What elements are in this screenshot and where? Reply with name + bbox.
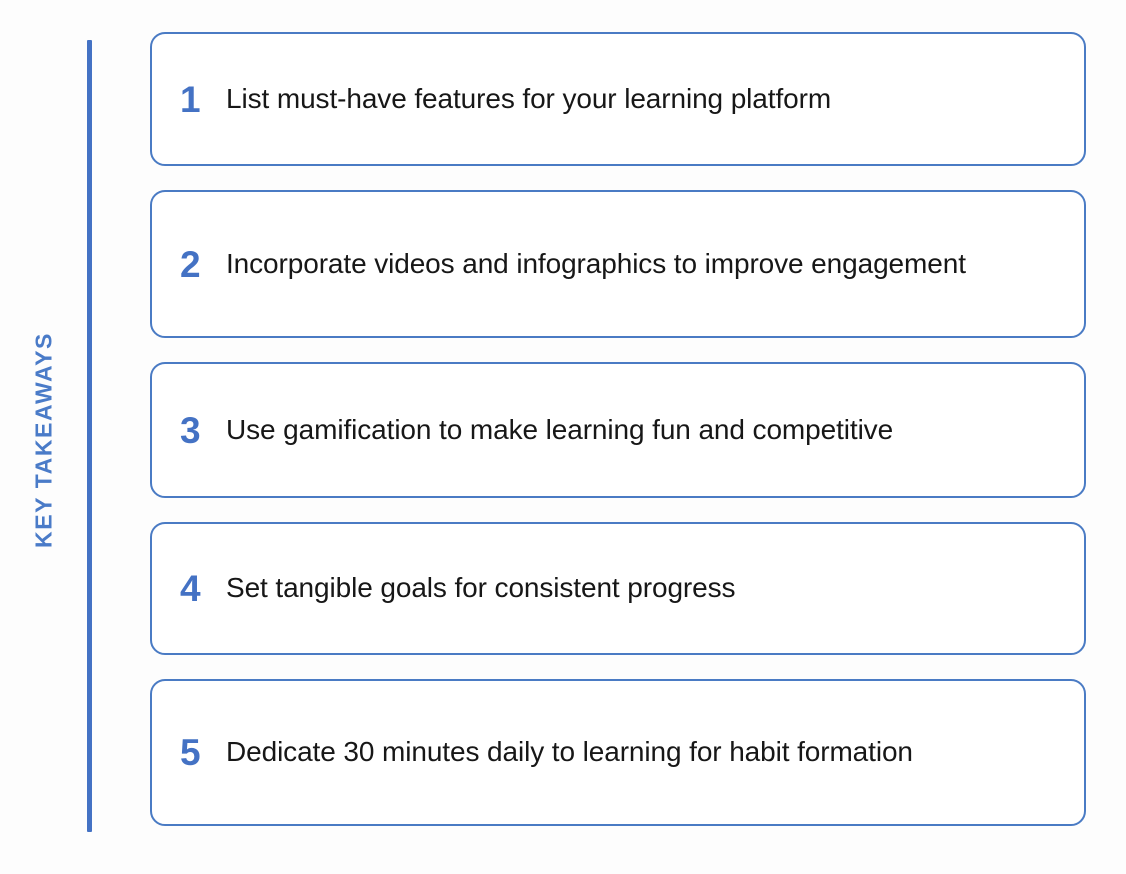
takeaway-text-4: Set tangible goals for consistent progre… bbox=[226, 569, 1062, 607]
vertical-accent-bar bbox=[87, 40, 92, 832]
takeaway-card-3[interactable]: 3 Use gamification to make learning fun … bbox=[150, 362, 1086, 498]
takeaway-number-4: 4 bbox=[180, 570, 226, 607]
takeaway-card-5[interactable]: 5 Dedicate 30 minutes daily to learning … bbox=[150, 679, 1086, 826]
takeaway-number-1: 1 bbox=[180, 81, 226, 118]
takeaway-card-1[interactable]: 1 List must-have features for your learn… bbox=[150, 32, 1086, 166]
takeaway-text-2: Incorporate videos and infographics to i… bbox=[226, 245, 1062, 283]
key-takeaways-infographic: KEY TAKEAWAYS 1 List must-have features … bbox=[0, 0, 1126, 874]
takeaway-text-1: List must-have features for your learnin… bbox=[226, 80, 1062, 118]
section-label-container: KEY TAKEAWAYS bbox=[0, 0, 88, 874]
takeaway-text-5: Dedicate 30 minutes daily to learning fo… bbox=[226, 733, 1062, 771]
takeaway-number-2: 2 bbox=[180, 246, 226, 283]
takeaways-list: 1 List must-have features for your learn… bbox=[150, 32, 1086, 826]
takeaway-card-2[interactable]: 2 Incorporate videos and infographics to… bbox=[150, 190, 1086, 338]
section-label-key-takeaways: KEY TAKEAWAYS bbox=[31, 332, 58, 548]
takeaway-number-5: 5 bbox=[180, 734, 226, 771]
takeaway-text-3: Use gamification to make learning fun an… bbox=[226, 411, 1062, 449]
takeaway-card-4[interactable]: 4 Set tangible goals for consistent prog… bbox=[150, 522, 1086, 655]
takeaway-number-3: 3 bbox=[180, 412, 226, 449]
